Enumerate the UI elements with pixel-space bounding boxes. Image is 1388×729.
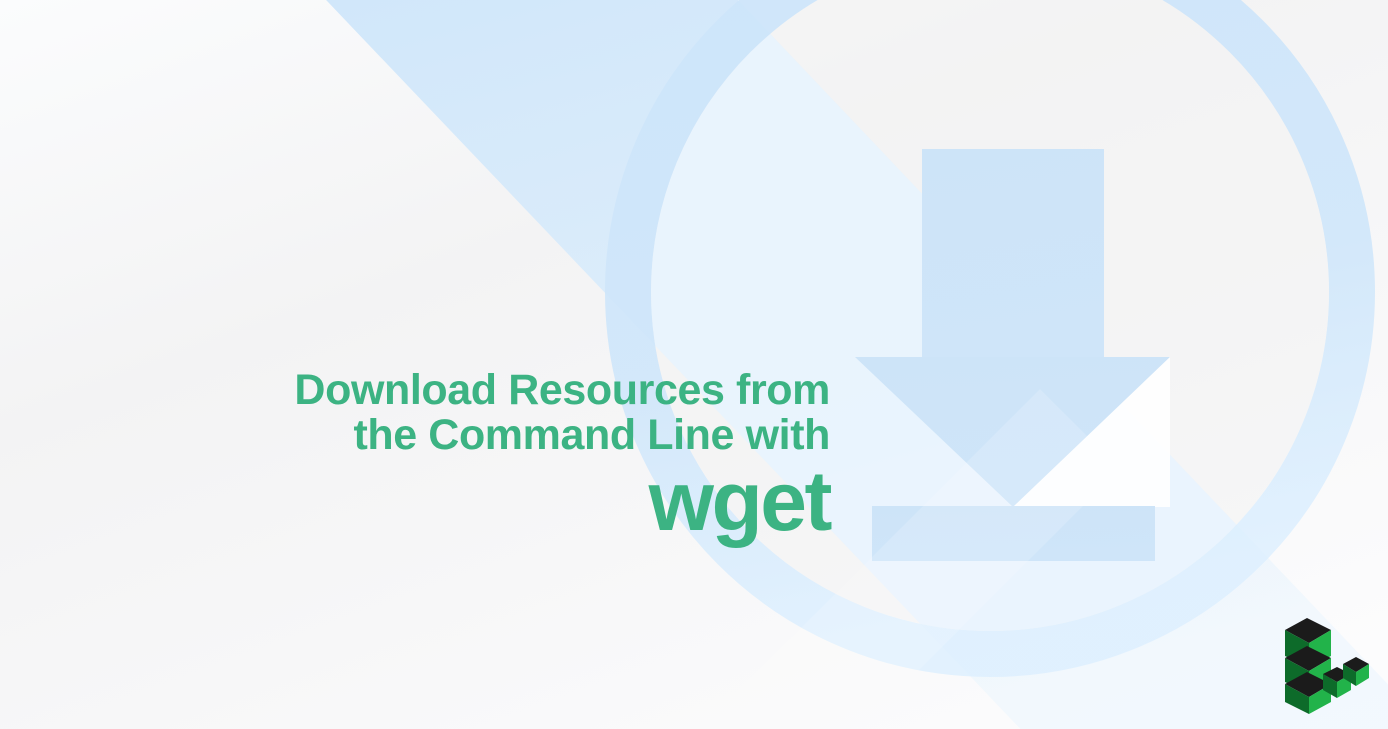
background-artwork — [0, 0, 1388, 729]
cube-logo — [1277, 606, 1373, 716]
headline-wordmark: wget — [60, 459, 830, 543]
title-slide: Download Resources from the Command Line… — [0, 0, 1388, 729]
headline-line-2: the Command Line with — [60, 413, 830, 458]
headline-line-1: Download Resources from — [60, 368, 830, 413]
headline-block: Download Resources from the Command Line… — [60, 368, 830, 543]
